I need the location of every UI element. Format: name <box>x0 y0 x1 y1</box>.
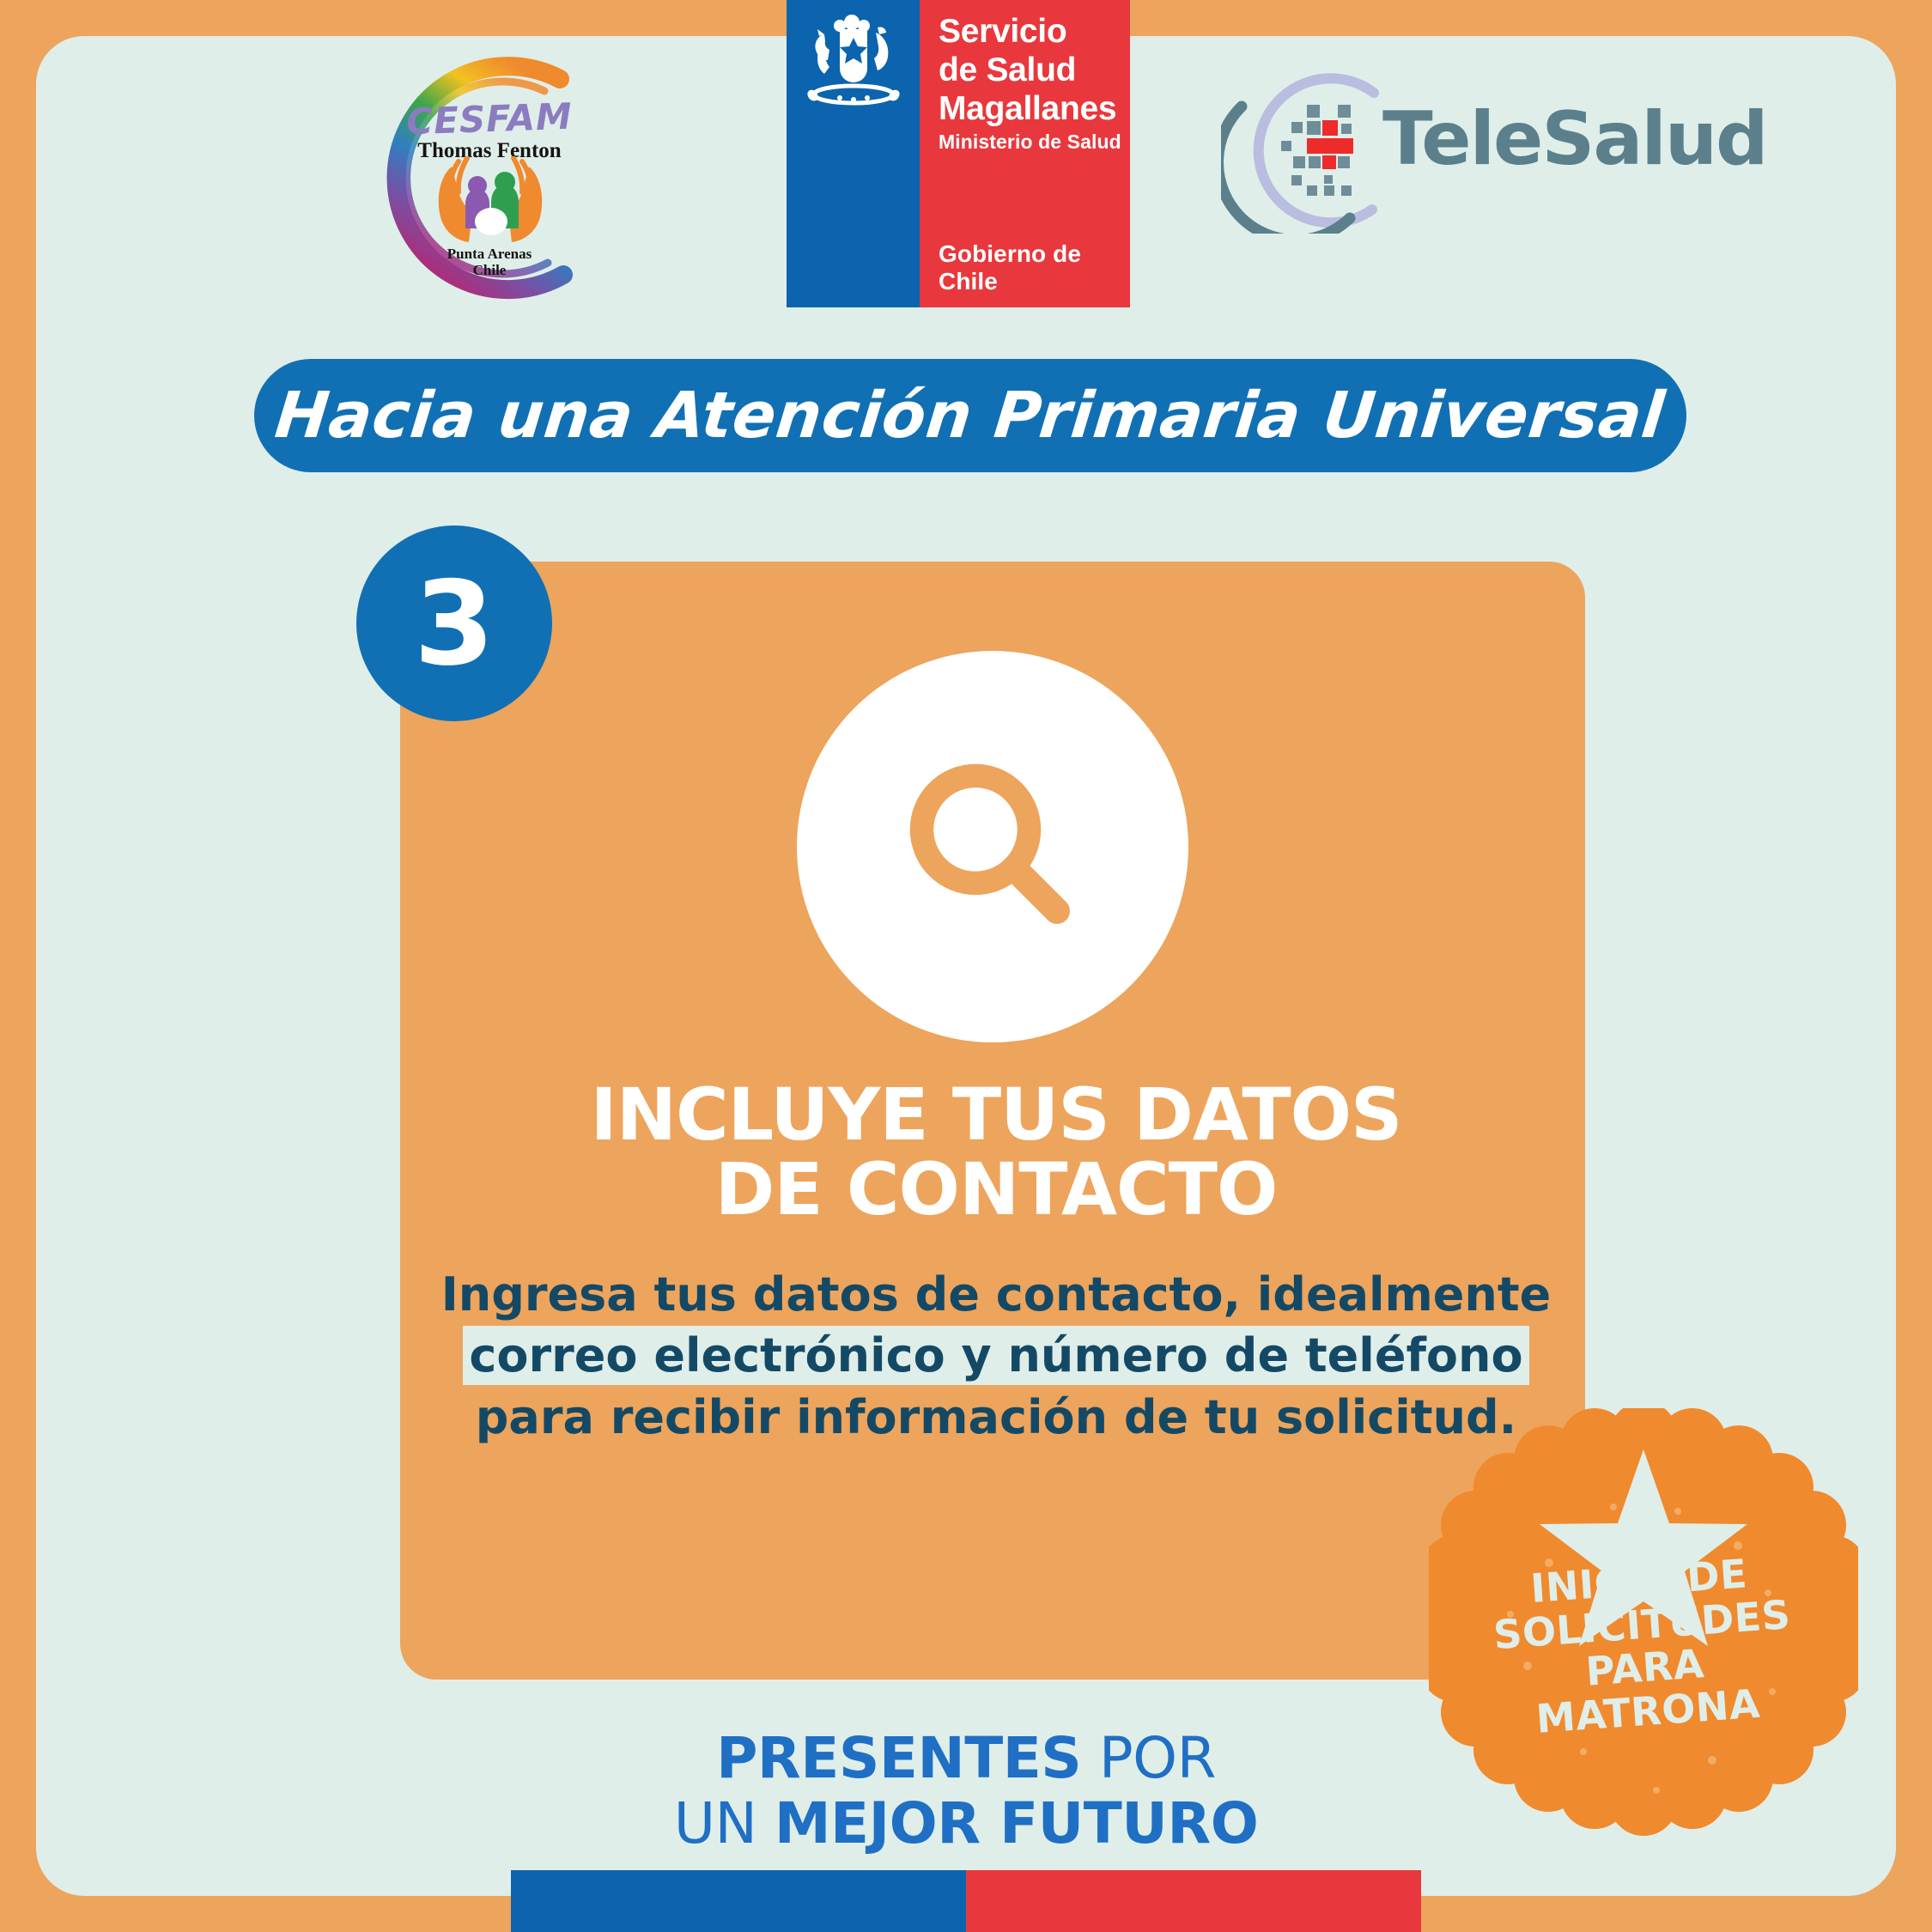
step-icon-circle <box>797 651 1188 1042</box>
government-logo: Servicio de Salud Magallanes Ministerio … <box>787 0 1130 307</box>
government-logo-blue-panel <box>787 0 920 307</box>
step-number-badge: 3 <box>356 526 552 721</box>
header-logos: CESFAM Thomas Fenton Punta Arenas Chile <box>36 0 1896 326</box>
cesfam-city: Punta Arenas Chile <box>361 246 618 278</box>
card-body-line-1: Ingresa tus datos de contacto, idealment… <box>429 1264 1563 1325</box>
footer-line2-light: UN <box>674 1790 775 1856</box>
footer-line1-strong: PRESENTES <box>716 1725 1081 1791</box>
cesfam-title: CESFAM <box>360 94 619 144</box>
headline-banner: Hacia una Atención Primaria Universal <box>254 359 1686 472</box>
footer-line2-strong: MEJOR FUTURO <box>775 1790 1258 1856</box>
chile-coat-of-arms-icon <box>802 12 905 108</box>
headline-banner-text: Hacia una Atención Primaria Universal <box>272 379 1668 453</box>
card-body-line-2-highlighted: correo electrónico y número de teléfono <box>465 1328 1526 1382</box>
search-icon <box>885 739 1100 954</box>
government-label: Gobierno de Chile <box>939 240 1130 295</box>
flag-bar-blue <box>511 1870 966 1932</box>
government-ministry-label: Ministerio de Salud <box>939 131 1121 154</box>
card-body-text: Ingresa tus datos de contacto, idealment… <box>429 1264 1563 1448</box>
chile-flag-bar <box>511 1870 1421 1932</box>
card-body-line-3: para recibir información de tu solicitud… <box>429 1387 1563 1448</box>
government-logo-red-panel: Servicio de Salud Magallanes Ministerio … <box>920 0 1130 307</box>
telesalud-pixel-cross-icon <box>1281 103 1377 196</box>
telesalud-wordmark: TeleSalud <box>1382 96 1767 182</box>
cesfam-logo: CESFAM Thomas Fenton Punta Arenas Chile <box>361 53 618 302</box>
starburst-badge: INICIO DE SOLICITUDES PARA MATRONA <box>1429 1408 1858 1838</box>
step-number-value: 3 <box>414 566 495 682</box>
hands-holding-family-icon <box>422 156 558 246</box>
starburst-badge-text: INICIO DE SOLICITUDES PARA MATRONA <box>1424 1545 1864 1748</box>
flag-bar-red <box>966 1870 1421 1932</box>
telesalud-logo: TeleSalud <box>1221 62 1728 234</box>
poster-canvas: CESFAM Thomas Fenton Punta Arenas Chile <box>0 0 1932 1932</box>
card-heading: INCLUYE TUS DATOS DE CONTACTO <box>429 1078 1563 1228</box>
footer-line1-light: POR <box>1081 1725 1216 1791</box>
government-service-name: Servicio de Salud Magallanes <box>939 12 1116 129</box>
